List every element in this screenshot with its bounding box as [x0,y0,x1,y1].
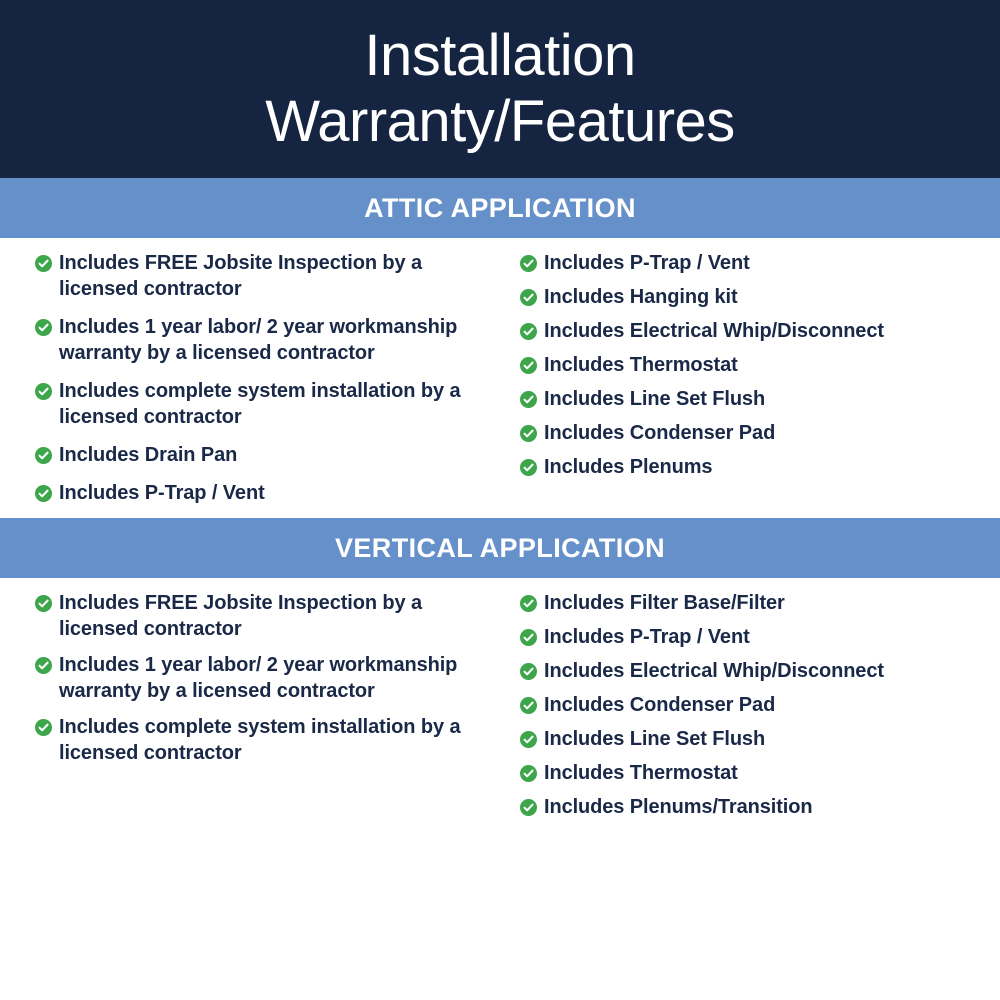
list-item-label: Includes FREE Jobsite Inspection by a li… [59,590,495,642]
section-title-vertical: VERTICAL APPLICATION [335,533,665,564]
list-item-label: Includes P-Trap / Vent [59,480,265,506]
list-item: Includes 1 year labor/ 2 year workmanshi… [35,652,495,704]
check-circle-icon [520,765,537,782]
list-item: Includes Thermostat [520,760,990,787]
list-item-label: Includes Condenser Pad [544,692,775,719]
list-item-label: Includes Thermostat [544,760,738,787]
vertical-left-column: Includes FREE Jobsite Inspection by a li… [0,590,515,776]
list-item: Includes Condenser Pad [520,420,990,447]
list-item: Includes P-Trap / Vent [35,480,495,506]
list-item: Includes 1 year labor/ 2 year workmanshi… [35,314,495,366]
list-item: Includes Drain Pan [35,442,495,468]
list-item: Includes FREE Jobsite Inspection by a li… [35,250,495,302]
check-circle-icon [520,391,537,408]
check-circle-icon [520,629,537,646]
check-circle-icon [35,383,52,400]
check-circle-icon [520,289,537,306]
check-circle-icon [520,799,537,816]
check-circle-icon [520,731,537,748]
list-item-label: Includes 1 year labor/ 2 year workmanshi… [59,314,495,366]
list-item-label: Includes complete system installation by… [59,378,495,430]
list-item-label: Includes Line Set Flush [544,726,765,753]
list-item-label: Includes Drain Pan [59,442,237,468]
check-circle-icon [520,595,537,612]
list-item: Includes complete system installation by… [35,378,495,430]
list-item: Includes Electrical Whip/Disconnect [520,318,990,345]
page-title: Installation Warranty/Features [235,23,765,155]
check-circle-icon [520,255,537,272]
section-body-attic: Includes FREE Jobsite Inspection by a li… [0,238,1000,518]
list-item-label: Includes P-Trap / Vent [544,624,750,651]
check-circle-icon [520,357,537,374]
list-item-label: Includes Hanging kit [544,284,738,311]
vertical-right-column: Includes Filter Base/Filter Includes P-T… [515,590,1000,828]
list-item: Includes Electrical Whip/Disconnect [520,658,990,685]
section-body-vertical: Includes FREE Jobsite Inspection by a li… [0,578,1000,828]
list-item-label: Includes P-Trap / Vent [544,250,750,277]
list-item: Includes Plenums [520,454,990,481]
list-item-label: Includes Line Set Flush [544,386,765,413]
check-circle-icon [35,485,52,502]
list-item-label: Includes 1 year labor/ 2 year workmanshi… [59,652,495,704]
list-item: Includes P-Trap / Vent [520,250,990,277]
check-circle-icon [520,697,537,714]
list-item: Includes Line Set Flush [520,386,990,413]
list-item: Includes Line Set Flush [520,726,990,753]
list-item: Includes P-Trap / Vent [520,624,990,651]
list-item: Includes Thermostat [520,352,990,379]
list-item: Includes Condenser Pad [520,692,990,719]
page-header: Installation Warranty/Features [0,0,1000,178]
list-item-label: Includes Condenser Pad [544,420,775,447]
check-circle-icon [520,323,537,340]
list-item-label: Includes Plenums [544,454,712,481]
list-item-label: Includes Electrical Whip/Disconnect [544,318,884,345]
section-title-attic: ATTIC APPLICATION [364,193,636,224]
check-circle-icon [35,447,52,464]
check-circle-icon [35,657,52,674]
list-item: Includes complete system installation by… [35,714,495,766]
list-item-label: Includes Filter Base/Filter [544,590,785,617]
check-circle-icon [520,663,537,680]
list-item: Includes FREE Jobsite Inspection by a li… [35,590,495,642]
section-vertical: VERTICAL APPLICATION Includes FREE Jobsi… [0,518,1000,828]
check-circle-icon [520,459,537,476]
attic-left-column: Includes FREE Jobsite Inspection by a li… [0,250,515,518]
list-item-label: Includes Plenums/Transition [544,794,812,821]
list-item-label: Includes complete system installation by… [59,714,495,766]
check-circle-icon [520,425,537,442]
list-item-label: Includes Electrical Whip/Disconnect [544,658,884,685]
section-band-vertical: VERTICAL APPLICATION [0,518,1000,578]
attic-right-column: Includes P-Trap / Vent Includes Hanging … [515,250,1000,488]
check-circle-icon [35,255,52,272]
section-attic: ATTIC APPLICATION Includes FREE Jobsite … [0,178,1000,518]
installation-warranty-features-page: Installation Warranty/Features ATTIC APP… [0,0,1000,1000]
list-item-label: Includes Thermostat [544,352,738,379]
check-circle-icon [35,719,52,736]
list-item: Includes Hanging kit [520,284,990,311]
list-item: Includes Filter Base/Filter [520,590,990,617]
check-circle-icon [35,319,52,336]
section-band-attic: ATTIC APPLICATION [0,178,1000,238]
list-item-label: Includes FREE Jobsite Inspection by a li… [59,250,495,302]
check-circle-icon [35,595,52,612]
list-item: Includes Plenums/Transition [520,794,990,821]
